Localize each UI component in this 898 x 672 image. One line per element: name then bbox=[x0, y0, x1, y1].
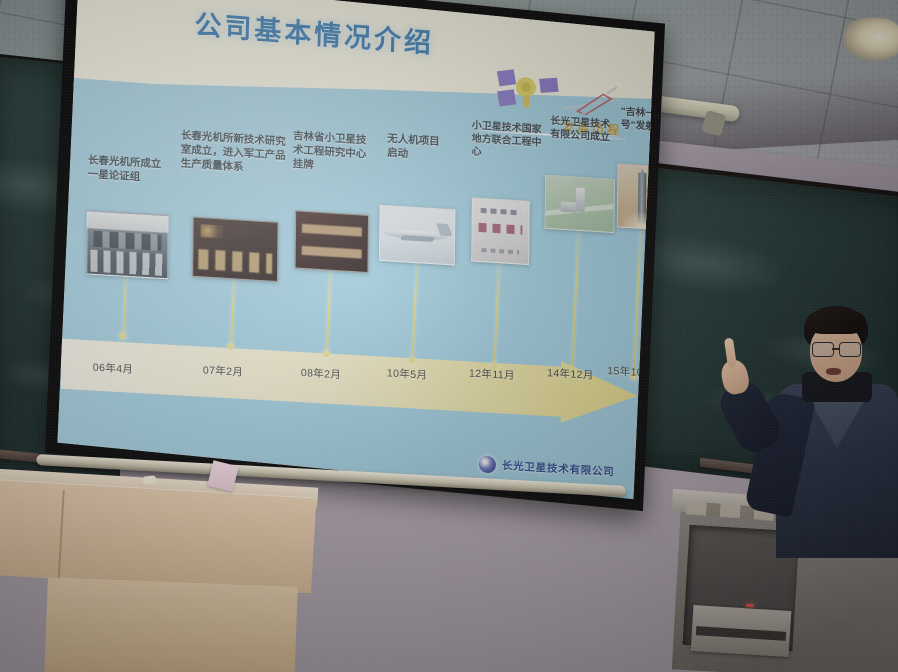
timeline-date-7: 15年10月 bbox=[607, 363, 654, 381]
timeline-date-6: 14年12月 bbox=[547, 365, 594, 383]
classroom-photo-scene: 公司基本情况介绍 发展历程 bbox=[0, 0, 898, 672]
chalk-piece bbox=[143, 475, 157, 484]
presenter bbox=[700, 298, 898, 558]
timeline-label-4: 无人机项目启动 bbox=[387, 133, 441, 164]
timeline-date-2: 07年2月 bbox=[203, 362, 243, 379]
timeline-thumb-5 bbox=[471, 197, 530, 265]
timeline-thumb-4 bbox=[379, 205, 455, 266]
lectern-power-led bbox=[746, 604, 754, 607]
projection-screen: 公司基本情况介绍 发展历程 bbox=[45, 0, 665, 511]
presenter-mouth bbox=[826, 368, 841, 375]
timeline-thumb-1 bbox=[86, 210, 168, 279]
timeline-date-1: 06年4月 bbox=[93, 360, 133, 377]
podium-front-panel bbox=[0, 479, 316, 594]
timeline-date-5: 12年11月 bbox=[469, 366, 515, 384]
timeline-date-3: 08年2月 bbox=[301, 365, 341, 382]
timeline-thumb-3 bbox=[295, 210, 369, 273]
ceiling-lamp-icon bbox=[844, 18, 898, 60]
timeline-label-1: 长春光机所成立一星论证组 bbox=[88, 154, 168, 187]
presentation-slide: 公司基本情况介绍 发展历程 bbox=[57, 0, 654, 499]
timeline-label-6: 长光卫星技术有限公司成立 bbox=[550, 115, 612, 145]
timeline-thumb-2 bbox=[192, 217, 278, 283]
timeline-label-7: "吉林一号"发射成功 bbox=[621, 106, 655, 136]
timeline-label-5: 小卫星技术国家地方联合工程中心 bbox=[471, 119, 543, 163]
timeline-thumb-7 bbox=[617, 163, 655, 230]
podium-base bbox=[44, 577, 298, 672]
timeline-date-4: 10年5月 bbox=[387, 365, 427, 382]
eyeglasses-icon bbox=[812, 342, 862, 355]
wooden-podium bbox=[0, 478, 323, 672]
satellite-icon bbox=[496, 64, 560, 113]
presenter-fringe bbox=[806, 308, 866, 334]
timeline-label-2: 长春光机所新技术研究室成立，进入军工产品生产质量体系 bbox=[181, 129, 287, 177]
company-logo-icon bbox=[479, 455, 496, 473]
timeline-thumb-6 bbox=[545, 175, 615, 233]
timeline-label-3: 吉林省小卫星技术工程研究中心挂牌 bbox=[293, 130, 369, 176]
